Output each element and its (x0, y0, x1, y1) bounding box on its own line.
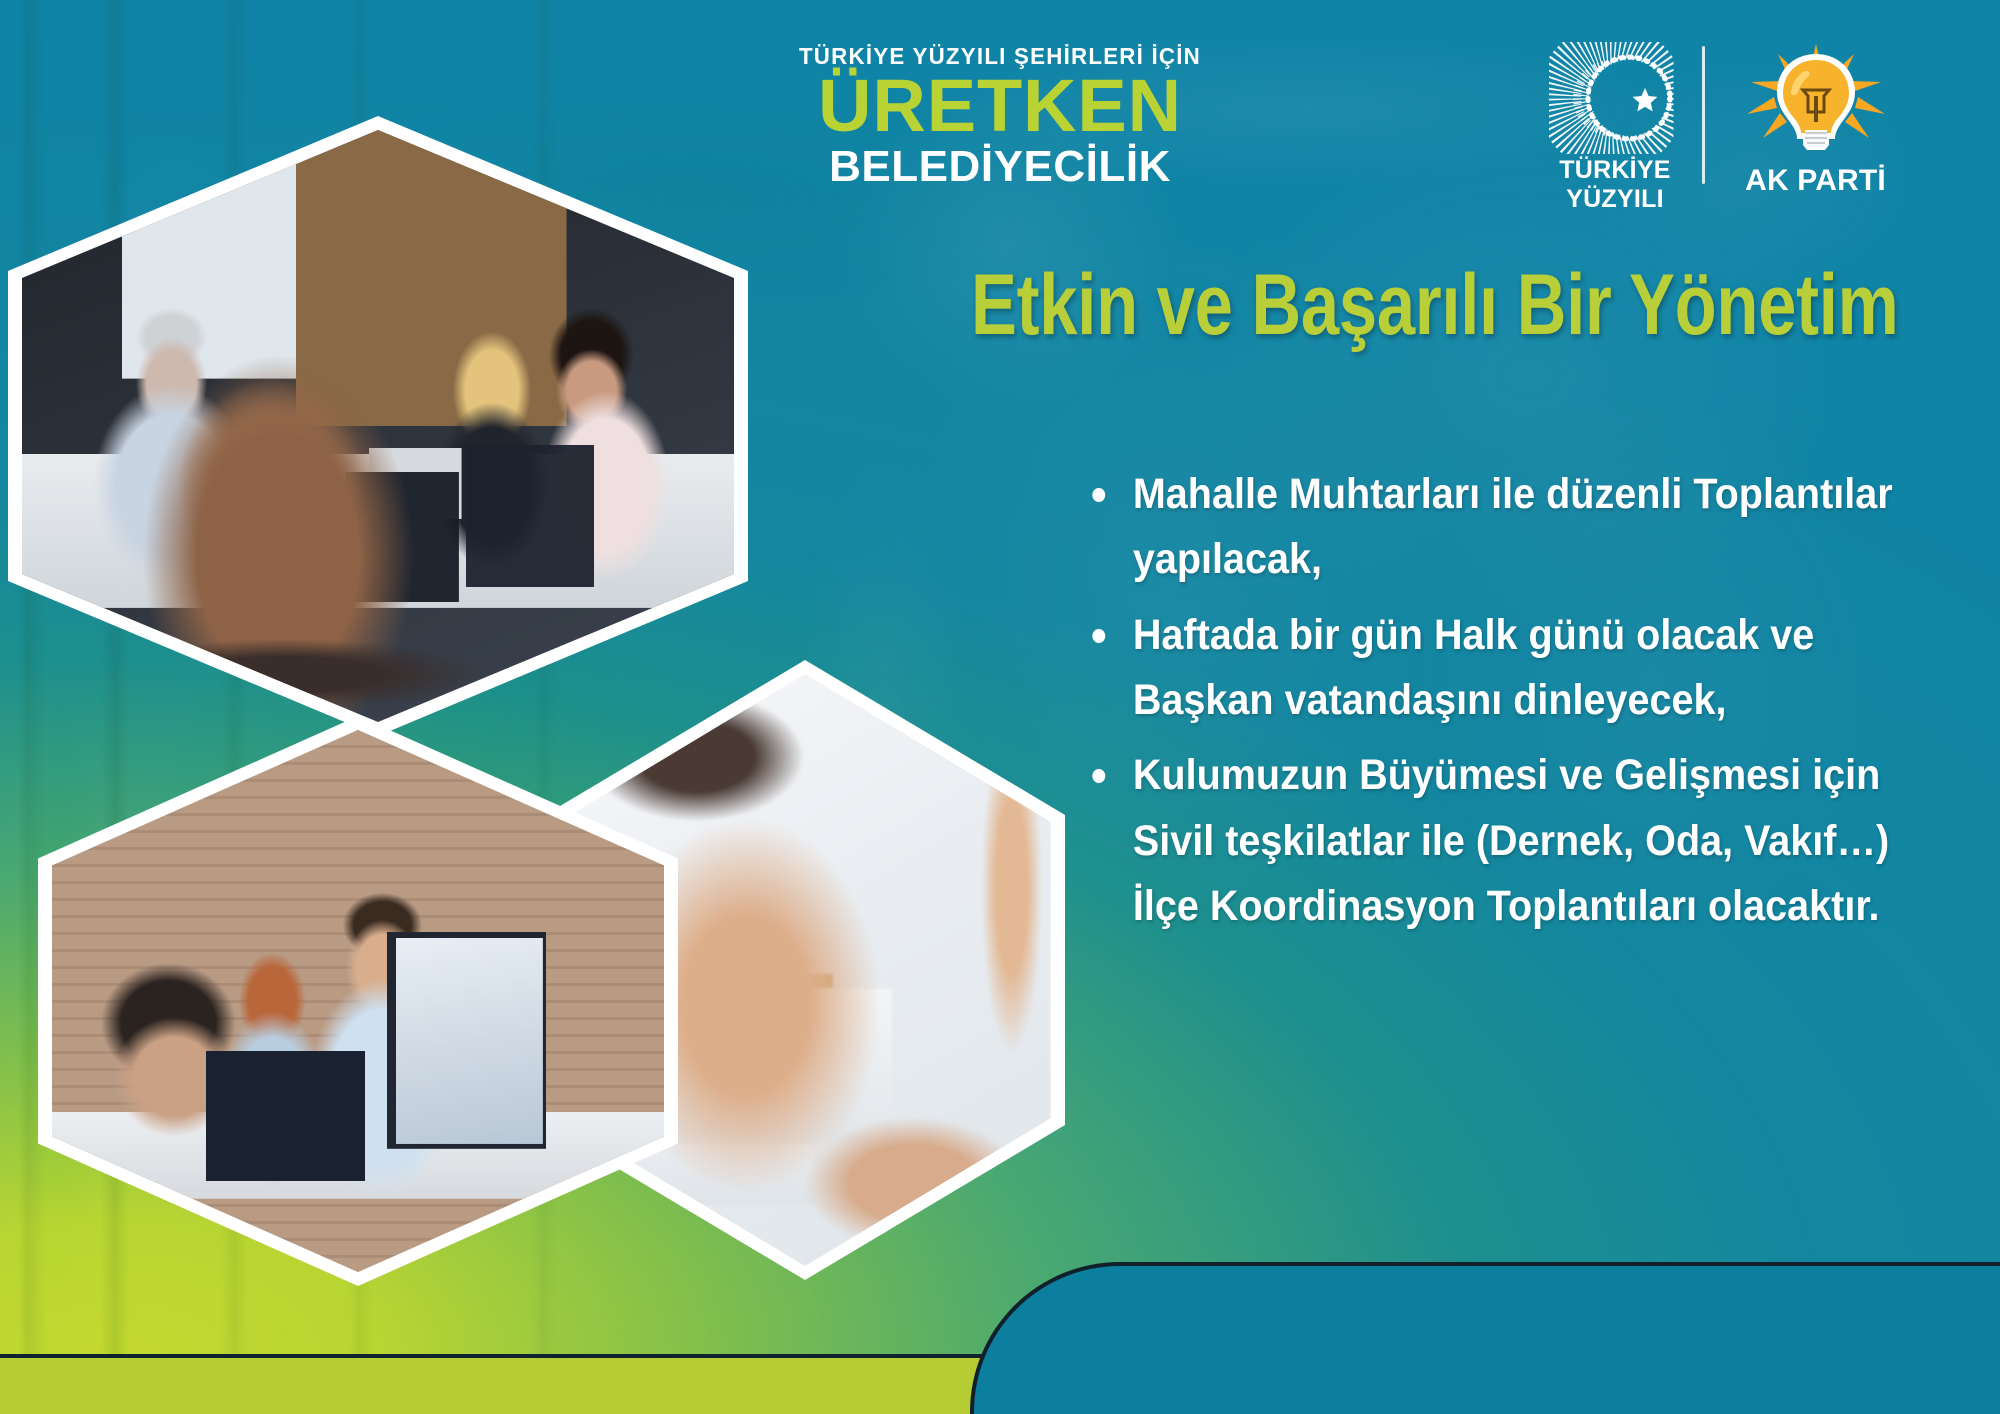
brand-subtitle: BELEDİYECİLİK (740, 145, 1260, 190)
promise-list: Mahalle Muhtarları ile düzenli Toplantıl… (1085, 462, 1970, 950)
bullet-dot-icon (1092, 769, 1105, 783)
list-item-text: Haftada bir gün Halk günü olacak ve Başk… (1133, 611, 1814, 724)
list-item-text: Mahalle Muhtarları ile düzenli Toplantıl… (1133, 470, 1893, 583)
list-item: Kulumuzun Büyümesi ve Gelişmesi için Siv… (1085, 743, 1899, 939)
akparti-logo: AK PARTİ (1721, 42, 1910, 196)
akparti-label: AK PARTİ (1721, 166, 1910, 196)
turkiye-yuzyili-logo: TÜRKİYE YÜZYILI (1540, 42, 1690, 212)
bottom-teal-panel (970, 1262, 2000, 1414)
crescent-star-icon (1549, 42, 1681, 154)
brand-kicker: TÜRKİYE YÜZYILI ŞEHİRLERİ İÇİN (748, 44, 1252, 68)
list-item: Haftada bir gün Halk günü olacak ve Başk… (1085, 603, 1899, 734)
akparti-logo-lockup: TÜRKİYE YÜZYILI (1540, 42, 1910, 222)
turkiye-label-line2: YÜZYILI (1540, 187, 1690, 212)
lightbulb-rays-icon (1741, 42, 1891, 160)
poster-canvas: TÜRKİYE YÜZYILI ŞEHİRLERİ İÇİN ÜRETKEN B… (0, 0, 2000, 1414)
brand-logotype: TÜRKİYE YÜZYILI ŞEHİRLERİ İÇİN ÜRETKEN B… (740, 44, 1260, 190)
brand-title: ÜRETKEN (740, 70, 1260, 143)
page-title: Etkin ve Başarılı Bir Yönetim (971, 262, 1859, 348)
logo-divider (1702, 46, 1705, 184)
list-item-text: Kulumuzun Büyümesi ve Gelişmesi için Siv… (1133, 751, 1889, 930)
bullet-dot-icon (1092, 488, 1105, 502)
turkiye-label-line1: TÜRKİYE (1540, 158, 1690, 183)
bullet-dot-icon (1092, 629, 1105, 643)
list-item: Mahalle Muhtarları ile düzenli Toplantıl… (1085, 462, 1899, 593)
